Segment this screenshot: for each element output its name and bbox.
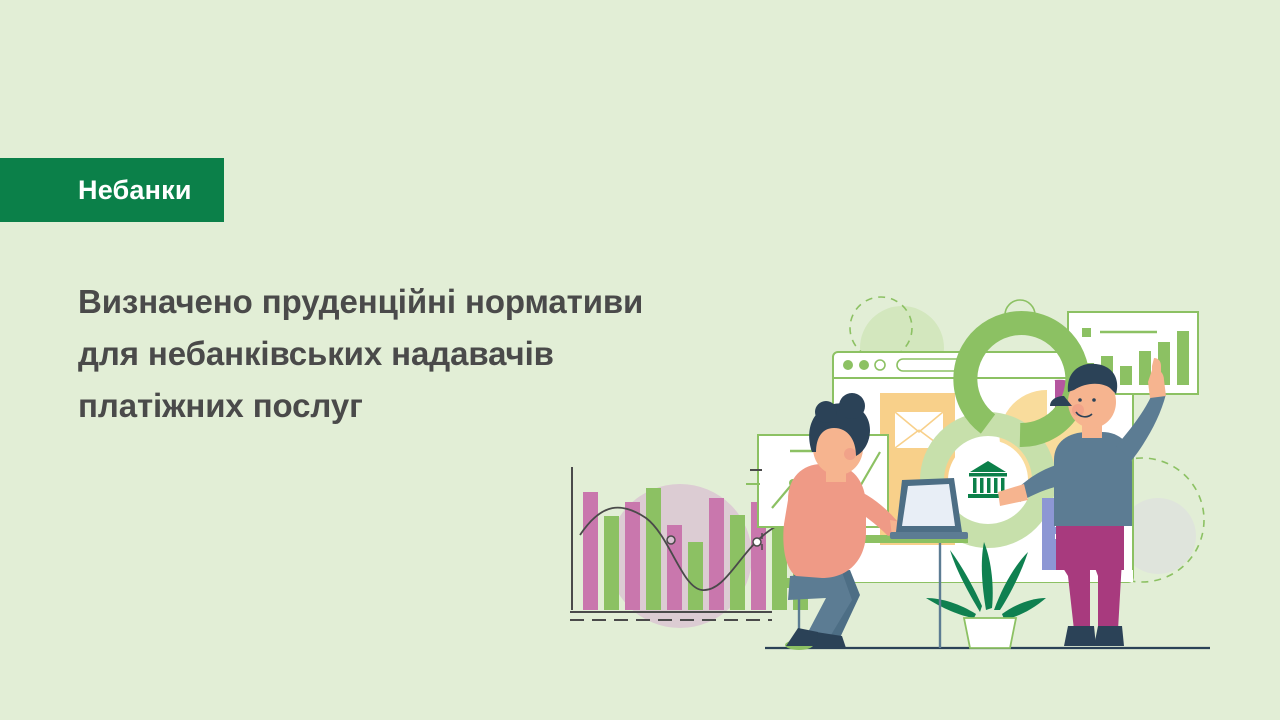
- bank-icon-column: [994, 478, 998, 493]
- man-shoe-right: [1094, 626, 1124, 646]
- bar-chart-bar: [1120, 366, 1132, 385]
- man-finger-pointing: [1152, 358, 1161, 378]
- woman-cheek: [844, 448, 856, 460]
- woman-hair-bun: [839, 393, 865, 419]
- left-tick-marks: [568, 460, 762, 484]
- plant-pot: [964, 618, 1016, 648]
- man-pants: [1056, 520, 1124, 570]
- trend-marker: [667, 536, 675, 544]
- laptop-screen-inner: [902, 484, 955, 526]
- category-badge-label: Небанки: [78, 177, 192, 204]
- financial-analytics-illustration: [550, 270, 1250, 670]
- bar-chart-bar: [1177, 331, 1189, 385]
- man-shoe-left: [1064, 626, 1096, 646]
- category-badge[interactable]: Небанки: [0, 158, 224, 222]
- browser-dot-icon: [843, 360, 853, 370]
- man-eye: [1092, 398, 1096, 402]
- woman-torso: [783, 464, 866, 578]
- man-leg-right: [1092, 560, 1122, 630]
- browser-dot-icon: [859, 360, 869, 370]
- column-bar: [604, 516, 619, 610]
- bank-icon-column: [973, 478, 977, 493]
- bar-chart-legend-swatch: [1082, 328, 1091, 337]
- column-bar: [646, 488, 661, 610]
- laptop-base: [890, 532, 968, 539]
- column-bar: [625, 502, 640, 610]
- column-bar: [688, 542, 703, 610]
- bank-icon-column: [987, 478, 991, 493]
- man-eye: [1078, 398, 1082, 402]
- woman-hair-bun-2: [815, 401, 837, 423]
- column-bar: [709, 498, 724, 610]
- trend-marker: [753, 538, 761, 546]
- bank-icon-column: [980, 478, 984, 493]
- page-root: Небанки Визначено пруденційні нормативи …: [0, 0, 1280, 720]
- bank-icon-lintel: [969, 473, 1007, 477]
- column-bar: [583, 492, 598, 610]
